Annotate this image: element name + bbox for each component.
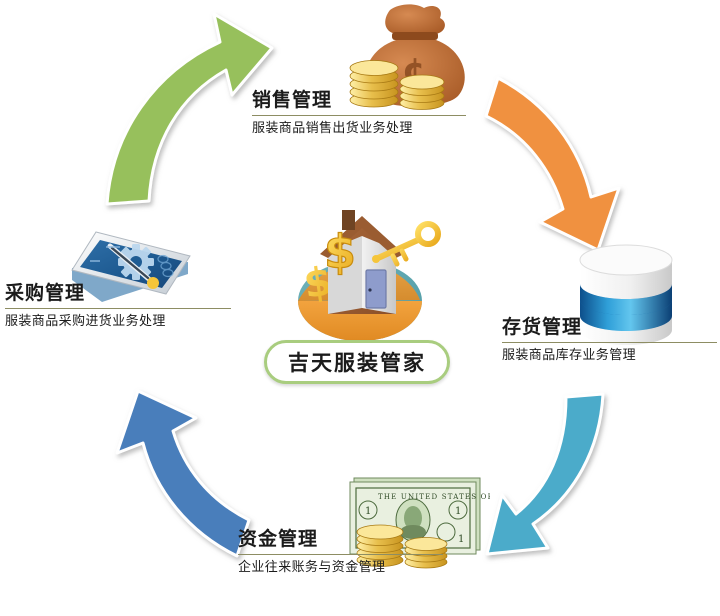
node-title-sales: 销售管理 (252, 88, 466, 112)
svg-text:$: $ (324, 225, 356, 279)
svg-text:1: 1 (458, 534, 464, 545)
node-label-sales: 销售管理 服装商品销售出货业务处理 (252, 88, 466, 138)
svg-text:1: 1 (455, 506, 461, 517)
node-label-fund: 资金管理 企业往来账务与资金管理 (238, 527, 443, 577)
node-subtitle-fund: 企业往来账务与资金管理 (238, 559, 443, 577)
node-subtitle-purchase: 服装商品采购进货业务处理 (5, 313, 231, 331)
node-title-stock: 存货管理 (502, 315, 717, 339)
node-title-purchase: 采购管理 (5, 281, 231, 305)
label-divider (502, 342, 717, 343)
arrow-purchase-to-sales (107, 14, 272, 204)
brand-pill: 吉天服装管家 (264, 340, 450, 384)
svg-text:THE UNITED STATES OF AMERICA: THE UNITED STATES OF AMERICA (378, 493, 490, 501)
house-with-dollar-and-key-icon: $ $ (262, 196, 458, 352)
node-subtitle-stock: 服装商品库存业务管理 (502, 347, 717, 365)
label-divider (5, 308, 231, 309)
node-title-fund: 资金管理 (238, 527, 443, 551)
arrow-stock-to-fund (487, 394, 603, 554)
svg-text:1: 1 (365, 506, 371, 517)
arrow-fund-to-purchase (117, 391, 249, 556)
arrow-sales-to-stock (486, 78, 619, 250)
node-label-stock: 存货管理 服装商品库存业务管理 (502, 315, 717, 365)
label-divider (238, 554, 443, 555)
node-label-purchase: 采购管理 服装商品采购进货业务处理 (5, 281, 231, 331)
node-subtitle-sales: 服装商品销售出货业务处理 (252, 120, 466, 138)
label-divider (252, 115, 466, 116)
cycle-diagram-canvas: $ $ (0, 0, 720, 616)
brand-title: 吉天服装管家 (288, 347, 426, 377)
